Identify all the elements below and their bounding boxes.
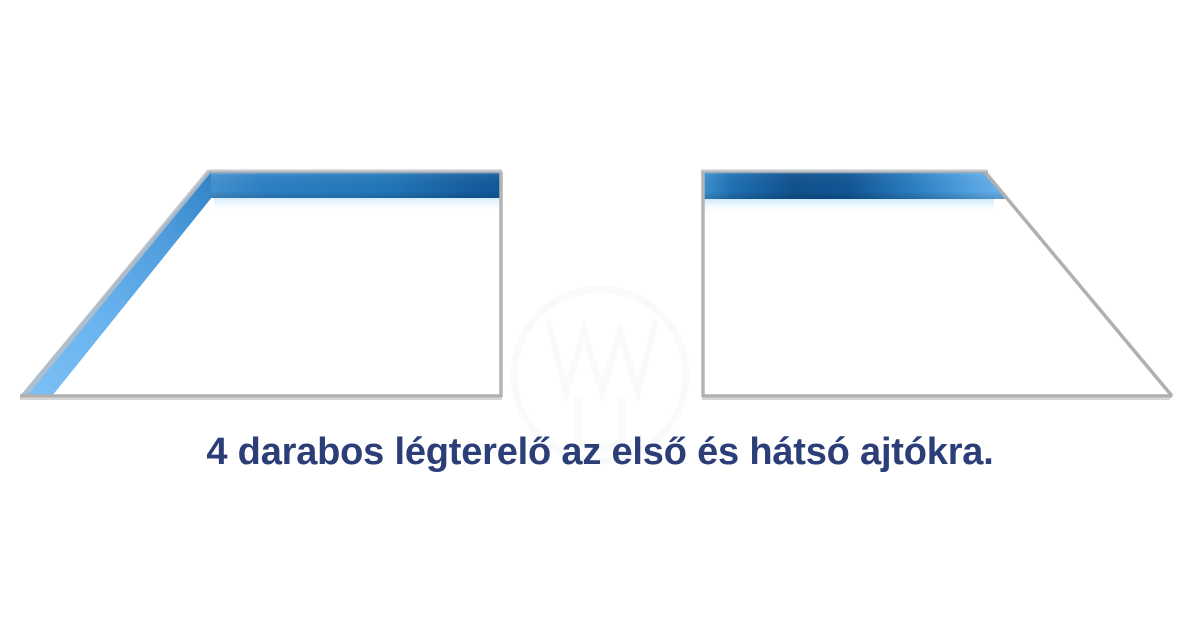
wind-deflector-illustration (0, 0, 1200, 630)
product-image-canvas: 4 darabos légterelő az első és hátsó ajt… (0, 0, 1200, 630)
left-top-rim (209, 169, 502, 173)
right-band-glow (704, 198, 994, 214)
wind-deflector-right (701, 169, 1172, 399)
right-top-rim (701, 169, 988, 173)
caption-text: 4 darabos légterelő az első és hátsó ajt… (0, 428, 1200, 476)
left-top-band-shading (211, 171, 500, 198)
wind-deflector-left (20, 169, 502, 399)
left-band-glow (214, 196, 500, 212)
right-top-band-shading (703, 171, 1007, 199)
